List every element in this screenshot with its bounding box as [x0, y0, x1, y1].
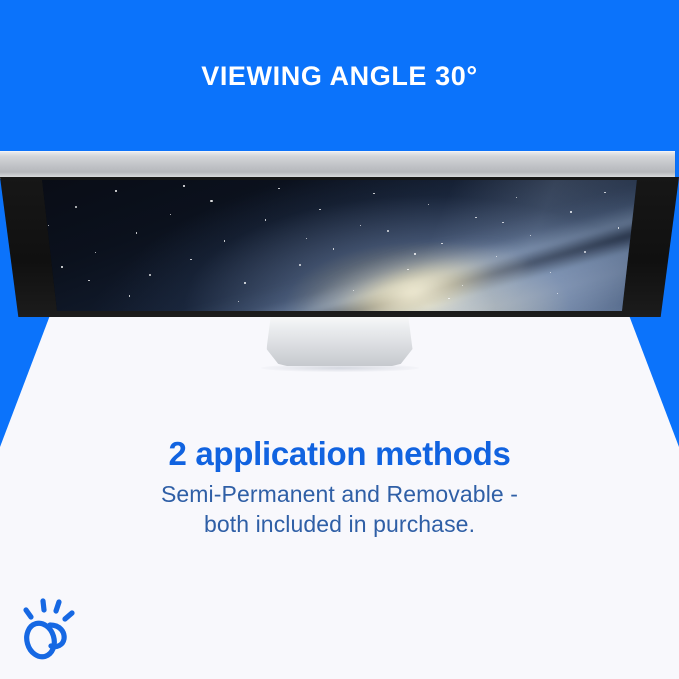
imac-monitor [0, 151, 679, 366]
marketing-copy: 2 application methods Semi-Permanent and… [0, 436, 679, 540]
idea-bulb-logo [14, 594, 86, 666]
logo-ray-2 [43, 601, 44, 610]
copy-subline: Semi-Permanent and Removable - both incl… [0, 480, 679, 540]
copy-subline-1: Semi-Permanent and Removable - [0, 480, 679, 510]
screen-glare [0, 180, 679, 311]
copy-subline-2: both included in purchase. [0, 510, 679, 540]
monitor-screen [0, 180, 679, 311]
page-title: VIEWING ANGLE 30° [201, 61, 478, 92]
logo-ray-1 [26, 610, 31, 617]
logo-ray-4 [65, 613, 72, 619]
product-infographic: VIEWING ANGLE 30° [0, 0, 679, 679]
copy-headline: 2 application methods [0, 436, 679, 473]
monitor-top-frame [0, 151, 675, 179]
logo-ray-3 [56, 602, 59, 611]
header-band: VIEWING ANGLE 30° [0, 0, 679, 152]
